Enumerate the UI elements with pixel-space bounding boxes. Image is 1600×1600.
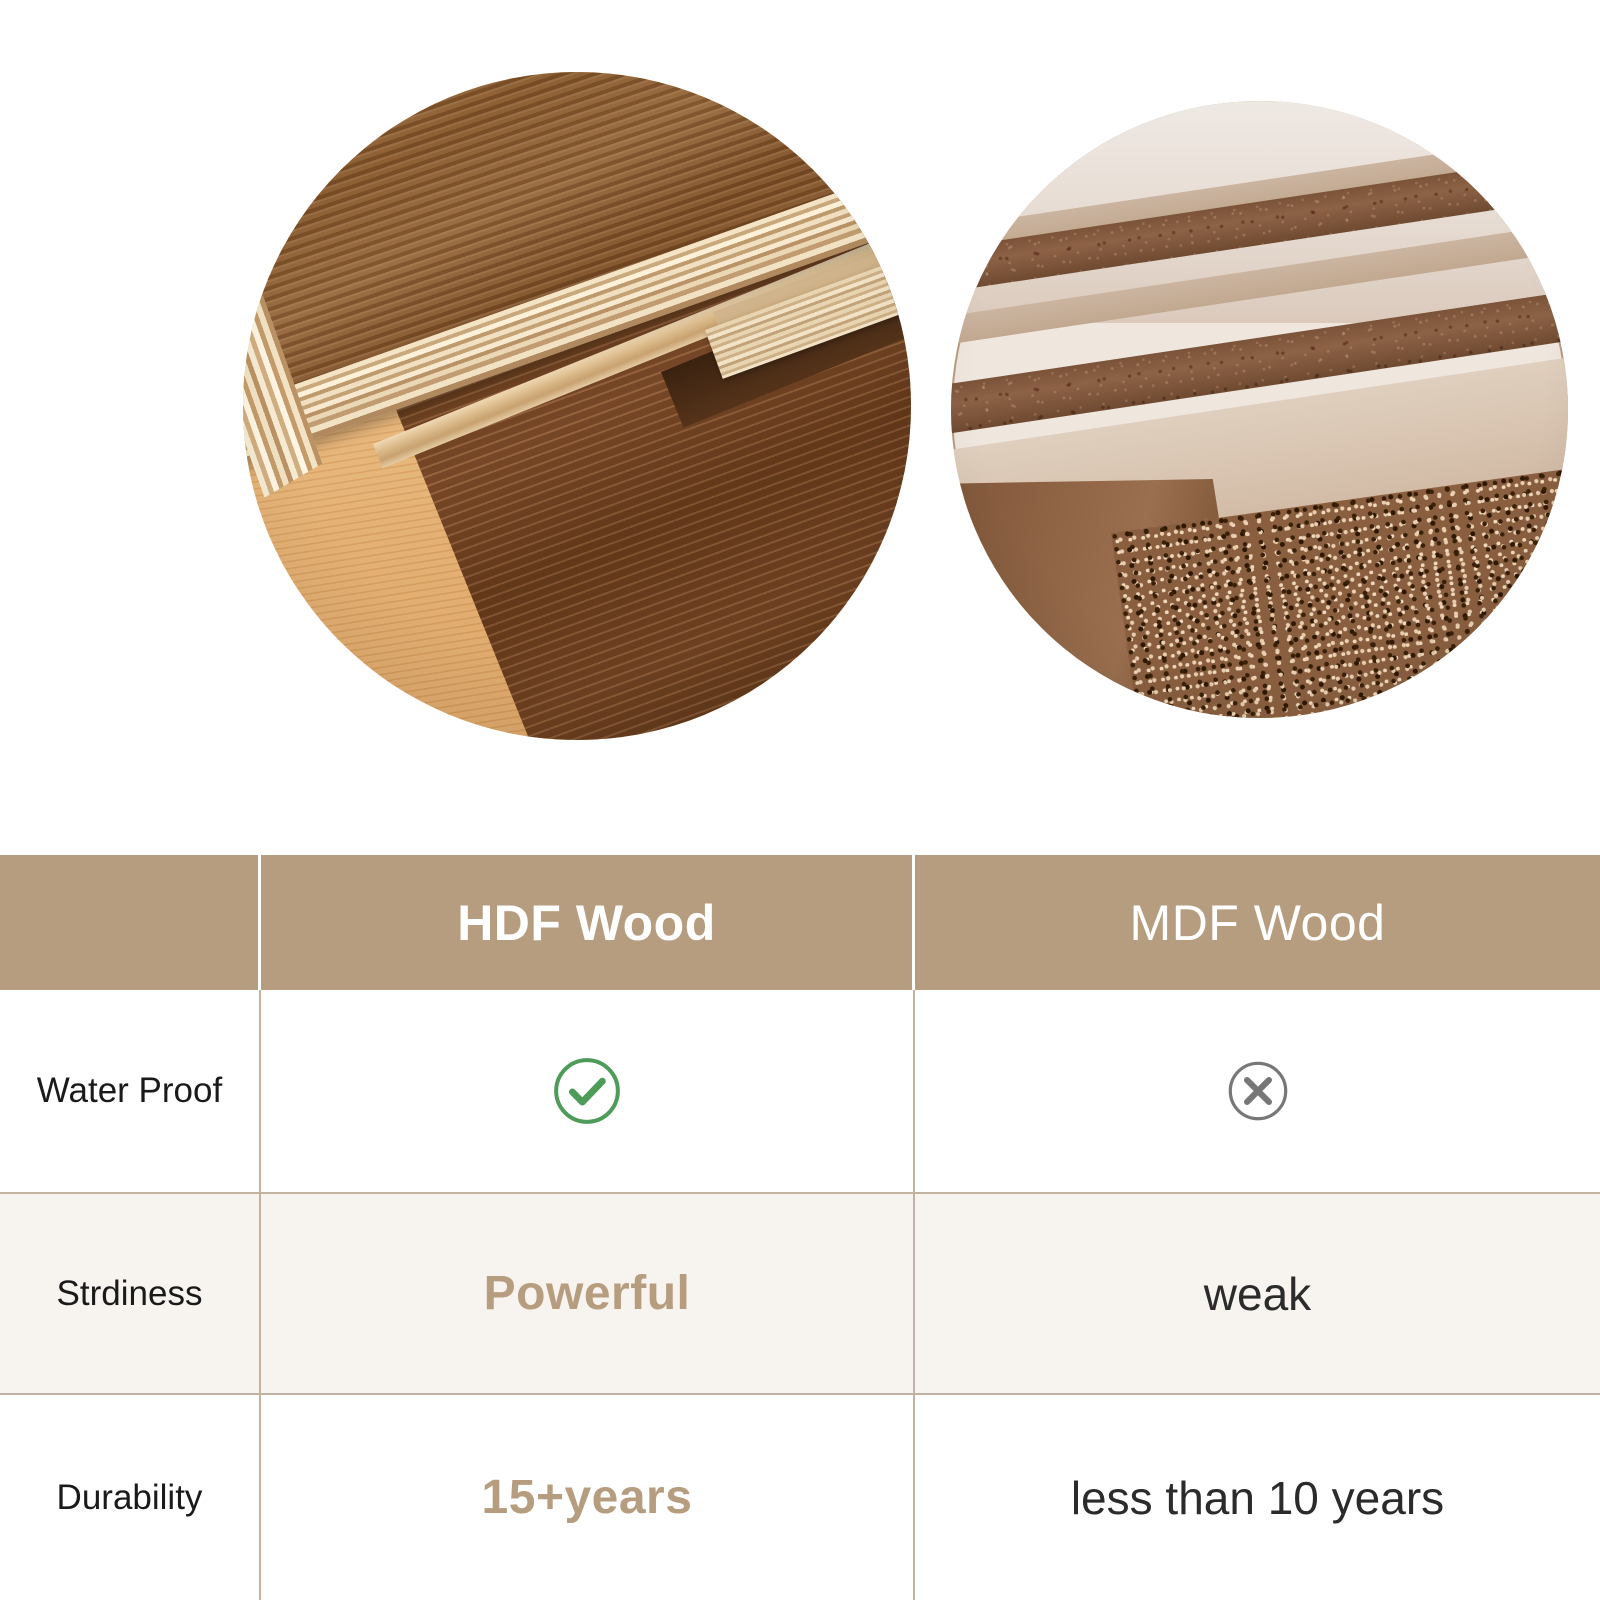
check-circle-icon [550, 1054, 624, 1128]
column-title-hdf: HDF Wood [457, 898, 716, 948]
table-header-mdf: MDF Wood [915, 855, 1600, 990]
value-mdf-durability: less than 10 years [1071, 1471, 1444, 1525]
cell-mdf-durability: less than 10 years [915, 1395, 1600, 1600]
table-header-hdf: HDF Wood [261, 855, 915, 990]
table-row: Strdiness [0, 1194, 261, 1395]
table-header-blank-cell [0, 855, 261, 990]
row-label-water-proof: Water Proof [37, 1071, 222, 1111]
plywood-vignette [243, 72, 911, 740]
product-image-strip [0, 0, 1600, 855]
hdf-vs-mdf-comparison-table: HDF Wood MDF Wood Water Proof Strdiness … [0, 855, 1600, 1600]
cell-hdf-strdiness: Powerful [261, 1194, 915, 1395]
cell-hdf-water-proof [261, 990, 915, 1194]
hdf-plywood-photo [243, 72, 911, 740]
value-hdf-durability: 15+years [482, 1470, 693, 1525]
value-hdf-strdiness: Powerful [484, 1266, 691, 1321]
row-label-strdiness: Strdiness [57, 1274, 203, 1314]
mdf-vignette [951, 101, 1568, 718]
mdf-board-photo [951, 101, 1568, 718]
cross-circle-icon [1223, 1056, 1293, 1126]
table-row: Water Proof [0, 990, 261, 1194]
value-mdf-strdiness: weak [1204, 1267, 1311, 1321]
column-title-mdf: MDF Wood [1130, 898, 1386, 948]
cell-mdf-strdiness: weak [915, 1194, 1600, 1395]
table-row: Durability [0, 1395, 261, 1600]
row-label-durability: Durability [57, 1478, 203, 1518]
cell-hdf-durability: 15+years [261, 1395, 915, 1600]
cell-mdf-water-proof [915, 990, 1600, 1194]
